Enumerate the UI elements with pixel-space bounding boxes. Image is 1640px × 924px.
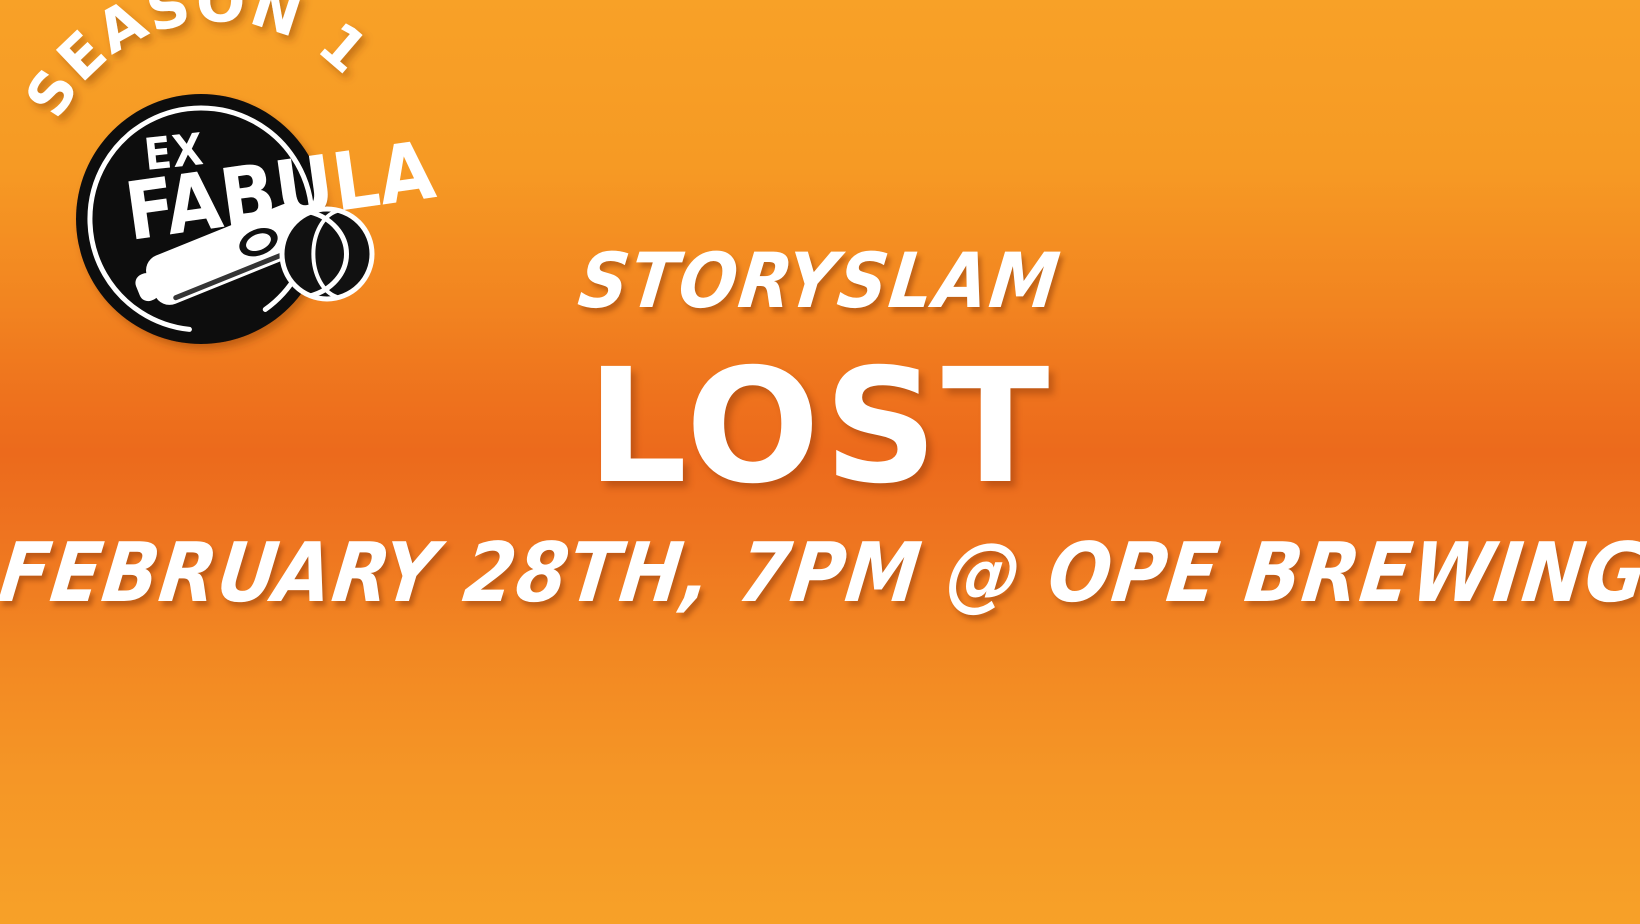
event-promo-poster: EX FABULA xyxy=(0,0,1640,924)
microphone-head xyxy=(282,209,372,299)
event-details: FEBRUARY 28TH, 7PM @ OPE BREWING xyxy=(0,526,1640,621)
ex-fabula-logo-lockup: EX FABULA xyxy=(38,8,398,353)
event-title: LOST xyxy=(0,348,1640,506)
